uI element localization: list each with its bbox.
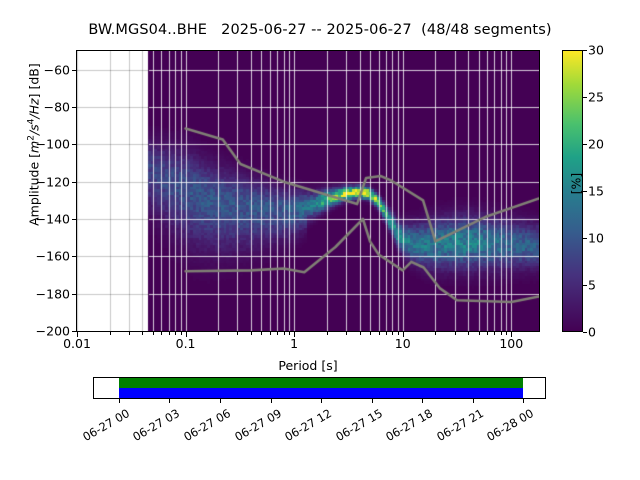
x-tick-mark [346,332,347,335]
timeline-tick-label: 06-27 06 [176,406,233,447]
colorbar-tick-label: 25 [588,90,604,105]
y-tick-label: −100 [24,137,70,152]
timeline-tick-mark [169,399,170,403]
colorbar-tick-label: 15 [588,184,604,199]
x-tick-mark [175,332,176,335]
x-tick-label: 100 [499,336,523,351]
x-tick-mark [251,332,252,335]
ppsd-density-canvas [77,51,539,331]
y-tick-label: −180 [24,286,70,301]
x-tick-mark [110,332,111,335]
x-tick-mark [435,332,436,335]
x-tick-mark [455,332,456,335]
x-tick-mark [392,332,393,335]
x-tick-mark [327,332,328,335]
timeline-tick-mark [473,399,474,403]
ppsd-plot-area [76,50,540,332]
timeline-tick-mark [220,399,221,403]
x-tick-mark [153,332,154,335]
data-coverage-green[interactable] [119,378,524,388]
colorbar-tick-mark [583,97,587,98]
colorbar-tick-mark [583,238,587,239]
data-coverage-blue[interactable] [119,388,524,398]
x-axis-label: Period [s] [76,358,540,373]
y-tick-mark [72,219,76,220]
x-tick-mark [370,332,371,335]
x-tick-mark [261,332,262,335]
colorbar-tick-mark [583,191,587,192]
ppsd-figure: BW.MGS04..BHE 2025-06-27 -- 2025-06-27 (… [0,0,640,480]
y-tick-mark [72,107,76,108]
colorbar-tick-label: 0 [588,325,596,340]
colorbar-tick-label: 20 [588,137,604,152]
timeline-tick-label: 06-27 09 [226,406,283,447]
y-tick-mark [72,70,76,71]
y-tick-label: −140 [24,212,70,227]
timeline-tick-label: 06-27 15 [327,406,384,447]
x-tick-label: 0.1 [176,336,196,351]
colorbar-tick-mark [583,332,587,333]
x-tick-mark [277,332,278,335]
x-tick-mark [479,332,480,335]
x-tick-mark [284,332,285,335]
x-tick-mark [506,332,507,335]
x-tick-mark [403,332,404,337]
timeline-tick-label: 06-28 00 [479,406,536,447]
x-tick-mark [511,332,512,337]
colorbar-tick-label: 10 [588,231,604,246]
x-tick-mark [501,332,502,335]
x-tick-mark [169,332,170,335]
timeline-tick-label: 06-27 18 [378,406,435,447]
timeline-tick-mark [271,399,272,403]
y-tick-mark [72,331,76,332]
timeline-tick-label: 06-27 03 [125,406,182,447]
y-tick-label: −60 [24,62,70,77]
x-tick-mark [289,332,290,335]
colorbar-tick-label: 5 [588,278,596,293]
x-tick-mark [142,332,143,335]
y-tick-mark [72,294,76,295]
x-tick-mark [468,332,469,335]
y-tick-label: −120 [24,174,70,189]
x-tick-label: 0.01 [63,336,91,351]
x-tick-mark [181,332,182,335]
x-tick-mark [237,332,238,335]
colorbar-tick-mark [583,144,587,145]
x-tick-mark [270,332,271,335]
colorbar-tick-mark [583,50,587,51]
x-tick-mark [161,332,162,335]
x-tick-mark [77,332,78,337]
y-tick-mark [72,182,76,183]
y-tick-mark [72,144,76,145]
x-tick-mark [494,332,495,335]
timeline-tick-label: 06-27 12 [277,406,334,447]
x-tick-mark [386,332,387,335]
figure-title: BW.MGS04..BHE 2025-06-27 -- 2025-06-27 (… [0,22,640,38]
x-tick-mark [487,332,488,335]
colorbar-tick-label: 30 [588,43,604,58]
timeline-tick-mark [422,399,423,403]
x-tick-mark [218,332,219,335]
timeline-tick-mark [372,399,373,403]
x-tick-label: 10 [395,336,411,351]
x-tick-label: 1 [290,336,298,351]
x-tick-mark [129,332,130,335]
timeline-tick-mark [321,399,322,403]
x-tick-mark [186,332,187,337]
colorbar-label: [%] [569,144,584,224]
x-tick-mark [360,332,361,335]
y-tick-label: −80 [24,100,70,115]
timeline-tick-mark [119,399,120,403]
y-tick-label: −160 [24,249,70,264]
timeline-tick-mark [523,399,524,403]
x-tick-mark [398,332,399,335]
timeline-tick-label: 06-27 21 [429,406,486,447]
colorbar-tick-mark [583,285,587,286]
x-tick-mark [379,332,380,335]
y-tick-mark [72,256,76,257]
x-tick-mark [294,332,295,337]
timeline-tick-label: 06-27 00 [75,406,132,447]
